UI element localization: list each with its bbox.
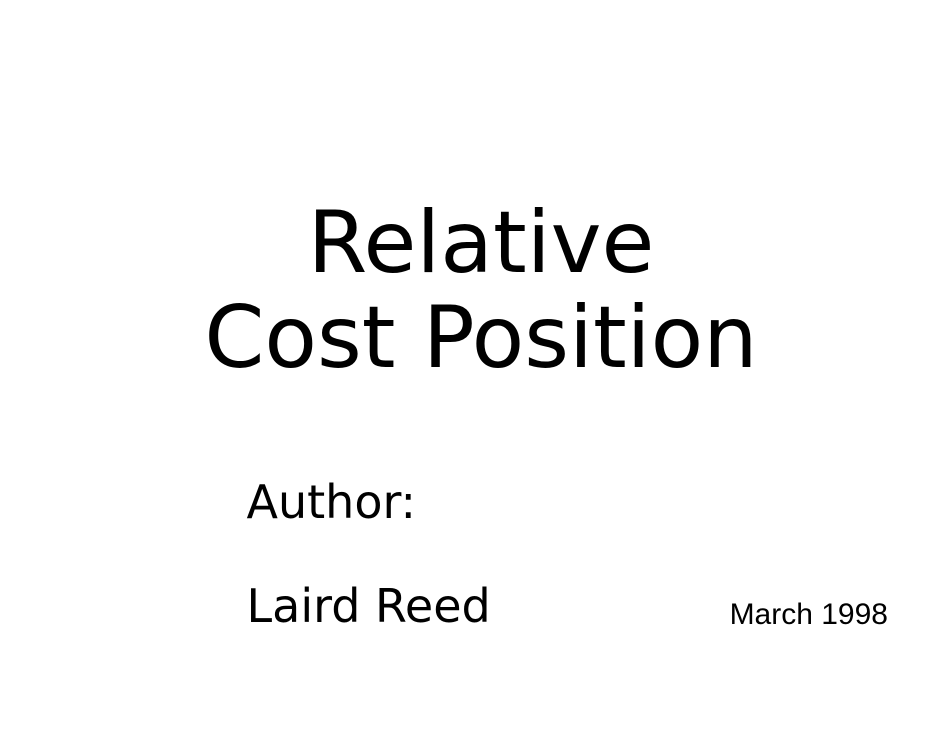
date-label: March 1998 — [0, 598, 888, 632]
page-title: Relative Cost Position — [0, 196, 950, 386]
author-row: Author: Laird Reed — [188, 424, 491, 684]
author-label: Author: — [247, 476, 417, 528]
page-title-line-2: Cost Position — [0, 291, 950, 386]
title-slide: Relative Cost Position Author: Laird Ree… — [0, 0, 950, 735]
page-title-line-1: Relative — [0, 196, 950, 291]
